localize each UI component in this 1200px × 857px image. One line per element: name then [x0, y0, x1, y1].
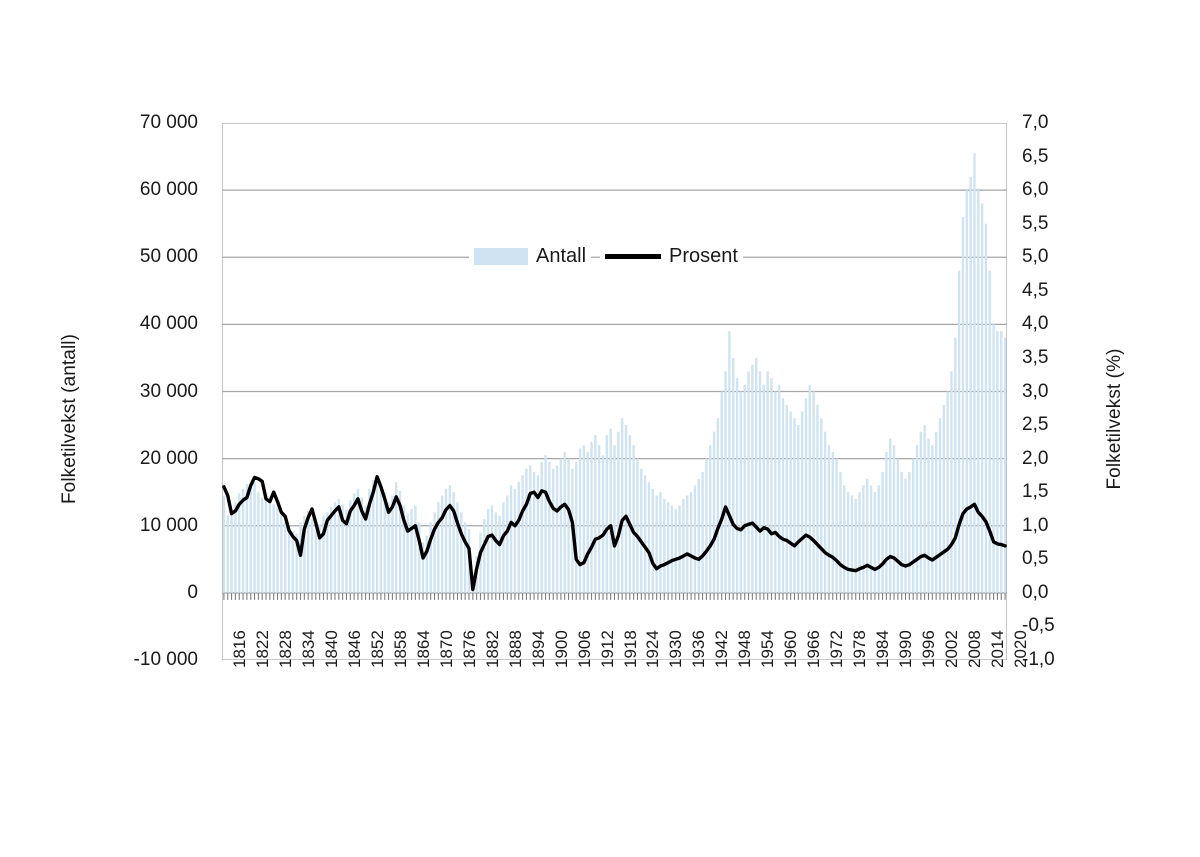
bar: [487, 509, 489, 593]
y-axis-left-tick-label: -10 000: [134, 649, 198, 671]
bar: [866, 479, 868, 593]
x-axis-tick-label: 1858: [391, 630, 411, 668]
bar: [862, 485, 864, 592]
bar: [246, 484, 248, 593]
bar: [966, 190, 968, 593]
bar: [969, 177, 971, 593]
bar: [671, 506, 673, 593]
bar: [824, 432, 826, 593]
x-axis-tick-labels: 1816182218281834184018461852185818641870…: [222, 668, 1007, 748]
bar: [330, 507, 332, 593]
bar: [632, 445, 634, 593]
y-axis-right-tick-label: 3,5: [1022, 347, 1048, 369]
bar: [223, 496, 225, 593]
bar: [640, 469, 642, 593]
bar: [786, 405, 788, 593]
bar: [552, 469, 554, 593]
bar: [556, 465, 558, 593]
bar: [954, 338, 956, 593]
y-axis-left-tick-label: 60 000: [140, 179, 198, 201]
bar: [659, 492, 661, 593]
bar: [621, 418, 623, 593]
bar: [889, 438, 891, 592]
bar: [694, 485, 696, 592]
x-axis-tick-label: 1828: [276, 630, 296, 668]
bar: [609, 428, 611, 592]
bar: [514, 489, 516, 593]
bar: [441, 496, 443, 593]
x-axis-tick-label: 1906: [575, 630, 595, 668]
x-axis-tick-label: 2014: [988, 630, 1008, 668]
bar: [541, 462, 543, 593]
y-axis-right-tick-label: 5,0: [1022, 246, 1048, 268]
y-axis-right-tick-label: 3,0: [1022, 381, 1048, 403]
bar: [544, 455, 546, 593]
y-axis-left-tick-label: 10 000: [140, 515, 198, 537]
bar: [583, 445, 585, 593]
x-axis-tick-label: 1948: [735, 630, 755, 668]
bar: [721, 392, 723, 593]
bar: [912, 459, 914, 593]
bar: [901, 472, 903, 593]
x-axis-tick-label: 1978: [850, 630, 870, 668]
y-axis-left-tick-label: 50 000: [140, 246, 198, 268]
bar: [992, 324, 994, 593]
bar: [828, 445, 830, 593]
x-axis-tick-label: 1924: [643, 630, 663, 668]
bar: [648, 482, 650, 593]
bar: [973, 153, 975, 593]
x-axis-tick-label: 2020: [1011, 630, 1031, 668]
bar: [273, 504, 275, 593]
bar: [774, 392, 776, 593]
bar: [931, 445, 933, 593]
x-axis-tick-label: 1846: [345, 630, 365, 668]
bar: [269, 499, 271, 593]
bar: [713, 432, 715, 593]
x-axis-tick-label: 1990: [896, 630, 916, 668]
bar: [564, 452, 566, 593]
bar: [529, 465, 531, 593]
bar: [311, 519, 313, 593]
bar: [977, 190, 979, 593]
bar: [667, 502, 669, 593]
bar: [717, 418, 719, 593]
x-axis-tick-label: 1876: [460, 630, 480, 668]
bar: [816, 405, 818, 593]
bar: [598, 445, 600, 593]
bar: [491, 506, 493, 593]
bar: [590, 442, 592, 593]
bar: [920, 432, 922, 593]
bar: [870, 485, 872, 592]
bar: [763, 385, 765, 593]
bar: [625, 425, 627, 593]
bar: [250, 487, 252, 593]
y-axis-right-tick-label: 4,5: [1022, 280, 1048, 302]
bar: [502, 502, 504, 593]
plot-svg: [222, 123, 1007, 660]
y-axis-right-tick-label: 6,5: [1022, 146, 1048, 168]
bar: [579, 449, 581, 593]
y-axis-right-title: Folketilvekst (%): [1104, 289, 1126, 549]
bar: [962, 217, 964, 593]
bar: [525, 469, 527, 593]
bar: [686, 496, 688, 593]
bar: [989, 271, 991, 593]
y-axis-left-tick-label: 20 000: [140, 448, 198, 470]
x-axis-tick-label: 1840: [322, 630, 342, 668]
y-axis-right-tick-label: 0,5: [1022, 548, 1048, 570]
bar: [387, 502, 389, 593]
bar: [1004, 338, 1006, 593]
x-axis-tick-label: 1894: [529, 630, 549, 668]
bar: [280, 512, 282, 593]
bar: [839, 472, 841, 593]
bar: [498, 516, 500, 593]
bar: [587, 452, 589, 593]
bar: [261, 498, 263, 593]
bar: [744, 385, 746, 593]
bar: [655, 496, 657, 593]
bar: [981, 204, 983, 593]
x-axis-tick-label: 1930: [666, 630, 686, 668]
x-axis-tick-label: 1912: [598, 630, 618, 668]
bar: [445, 489, 447, 593]
bar: [230, 512, 232, 593]
x-axis-tick-label: 2008: [965, 630, 985, 668]
bar: [629, 435, 631, 593]
bar: [858, 492, 860, 593]
bar: [805, 398, 807, 593]
x-axis-tick-label: 1942: [712, 630, 732, 668]
x-axis-tick-label: 1936: [689, 630, 709, 668]
bar: [832, 452, 834, 593]
bar: [851, 496, 853, 593]
population-growth-chart: Folketilvekst (antall) Folketilvekst (%)…: [0, 0, 1200, 857]
bar: [732, 358, 734, 593]
bar: [414, 506, 416, 593]
bar: [227, 516, 229, 593]
bar: [617, 432, 619, 593]
bar: [518, 482, 520, 593]
bar: [560, 459, 562, 593]
y-axis-left-tick-label: 0: [187, 582, 198, 604]
bar: [782, 398, 784, 593]
bar: [946, 392, 948, 593]
bar: [690, 492, 692, 593]
bar: [257, 492, 259, 593]
bar: [916, 445, 918, 593]
bar: [835, 459, 837, 593]
y-axis-right-tick-label: 2,5: [1022, 414, 1048, 436]
bar: [939, 418, 941, 593]
bar: [943, 405, 945, 593]
bar: [812, 392, 814, 593]
bar: [728, 331, 730, 593]
bar: [740, 392, 742, 593]
bar: [521, 475, 523, 592]
bar: [893, 445, 895, 593]
x-axis-tick-label: 1882: [483, 630, 503, 668]
bar: [575, 462, 577, 593]
x-axis-tick-label: 1852: [368, 630, 388, 668]
x-axis-tick-label: 2002: [942, 630, 962, 668]
bar: [950, 371, 952, 593]
bar: [724, 371, 726, 593]
x-axis-tick-label: 1972: [827, 630, 847, 668]
bar: [510, 485, 512, 592]
bar: [759, 371, 761, 593]
bar: [410, 509, 412, 593]
bar: [636, 459, 638, 593]
bar: [253, 482, 255, 593]
bar: [897, 459, 899, 593]
bar: [705, 459, 707, 593]
bar: [644, 475, 646, 592]
bar: [985, 224, 987, 593]
x-axis-tick-label: 1834: [299, 630, 319, 668]
bar: [315, 529, 317, 593]
bar: [533, 472, 535, 593]
bar: [701, 472, 703, 593]
bar: [908, 472, 910, 593]
x-axis-tick-label: 1870: [437, 630, 457, 668]
y-axis-left-tick-label: 40 000: [140, 313, 198, 335]
x-axis-tick-label: 1822: [253, 630, 273, 668]
y-axis-left-tick-label: 70 000: [140, 112, 198, 134]
bar: [820, 418, 822, 593]
bar: [843, 485, 845, 592]
bar: [874, 492, 876, 593]
bar: [284, 522, 286, 592]
bar: [437, 502, 439, 593]
y-axis-left-ticks: 70 00060 00050 00040 00030 00020 00010 0…: [78, 0, 198, 857]
bar: [766, 371, 768, 593]
y-axis-right-tick-label: 5,5: [1022, 213, 1048, 235]
bar: [885, 452, 887, 593]
x-axis-tick-label: 1918: [621, 630, 641, 668]
bar: [548, 462, 550, 593]
x-axis-tick-label: 1966: [804, 630, 824, 668]
y-axis-right-tick-label: 4,0: [1022, 313, 1048, 335]
bar: [334, 502, 336, 593]
bar: [797, 425, 799, 593]
y-axis-right-ticks: 7,06,56,05,55,04,54,03,53,02,52,01,51,00…: [1022, 0, 1102, 857]
bar: [923, 425, 925, 593]
y-axis-right-tick-label: 2,0: [1022, 448, 1048, 470]
x-axis-tick-label: 1900: [552, 630, 572, 668]
bar: [789, 412, 791, 593]
bar: [460, 512, 462, 593]
bar: [698, 479, 700, 593]
bar: [606, 435, 608, 593]
bar: [613, 445, 615, 593]
bar: [594, 435, 596, 593]
bar: [935, 432, 937, 593]
bar: [464, 522, 466, 592]
bar: [809, 385, 811, 593]
bar: [736, 378, 738, 593]
bar: [996, 331, 998, 593]
bar: [299, 522, 301, 592]
x-axis-tick-label: 1864: [414, 630, 434, 668]
bar: [376, 475, 378, 592]
y-axis-right-tick-label: 0,0: [1022, 582, 1048, 604]
y-axis-right-tick-label: 1,0: [1022, 515, 1048, 537]
bar: [801, 412, 803, 593]
bar: [881, 472, 883, 593]
bar: [682, 499, 684, 593]
bar: [770, 378, 772, 593]
bar: [567, 459, 569, 593]
y-axis-right-tick-label: 6,0: [1022, 179, 1048, 201]
bar: [678, 506, 680, 593]
bar: [927, 438, 929, 592]
y-axis-right-tick-label: 7,0: [1022, 112, 1048, 134]
bar: [847, 492, 849, 593]
bar: [483, 519, 485, 593]
bar: [958, 271, 960, 593]
plot-area: [222, 123, 1007, 660]
bar: [778, 385, 780, 593]
bar: [793, 418, 795, 593]
bar: [675, 509, 677, 593]
bar: [380, 484, 382, 593]
bar: [449, 485, 451, 592]
bar: [242, 489, 244, 593]
bar: [709, 445, 711, 593]
bar: [878, 485, 880, 592]
bar: [506, 496, 508, 593]
x-axis-tick-label: 1954: [758, 630, 778, 668]
bar: [904, 479, 906, 593]
x-axis-tick-label: 1888: [506, 630, 526, 668]
bar: [276, 508, 278, 593]
bar: [663, 499, 665, 593]
x-axis-tick-label: 1996: [919, 630, 939, 668]
bar: [1000, 331, 1002, 593]
bar: [652, 489, 654, 593]
y-axis-left-tick-label: 30 000: [140, 381, 198, 403]
x-axis-tick-label: 1816: [230, 630, 250, 668]
x-axis-tick-label: 1960: [781, 630, 801, 668]
bar: [751, 365, 753, 593]
bar: [292, 531, 294, 593]
bar: [747, 371, 749, 593]
bar: [755, 358, 757, 593]
bar: [234, 502, 236, 593]
x-axis-tick-label: 1984: [873, 630, 893, 668]
bar: [602, 455, 604, 593]
y-axis-right-tick-label: 1,5: [1022, 481, 1048, 503]
bar: [855, 499, 857, 593]
bar: [288, 527, 290, 593]
bar: [495, 512, 497, 593]
bar: [265, 500, 267, 593]
